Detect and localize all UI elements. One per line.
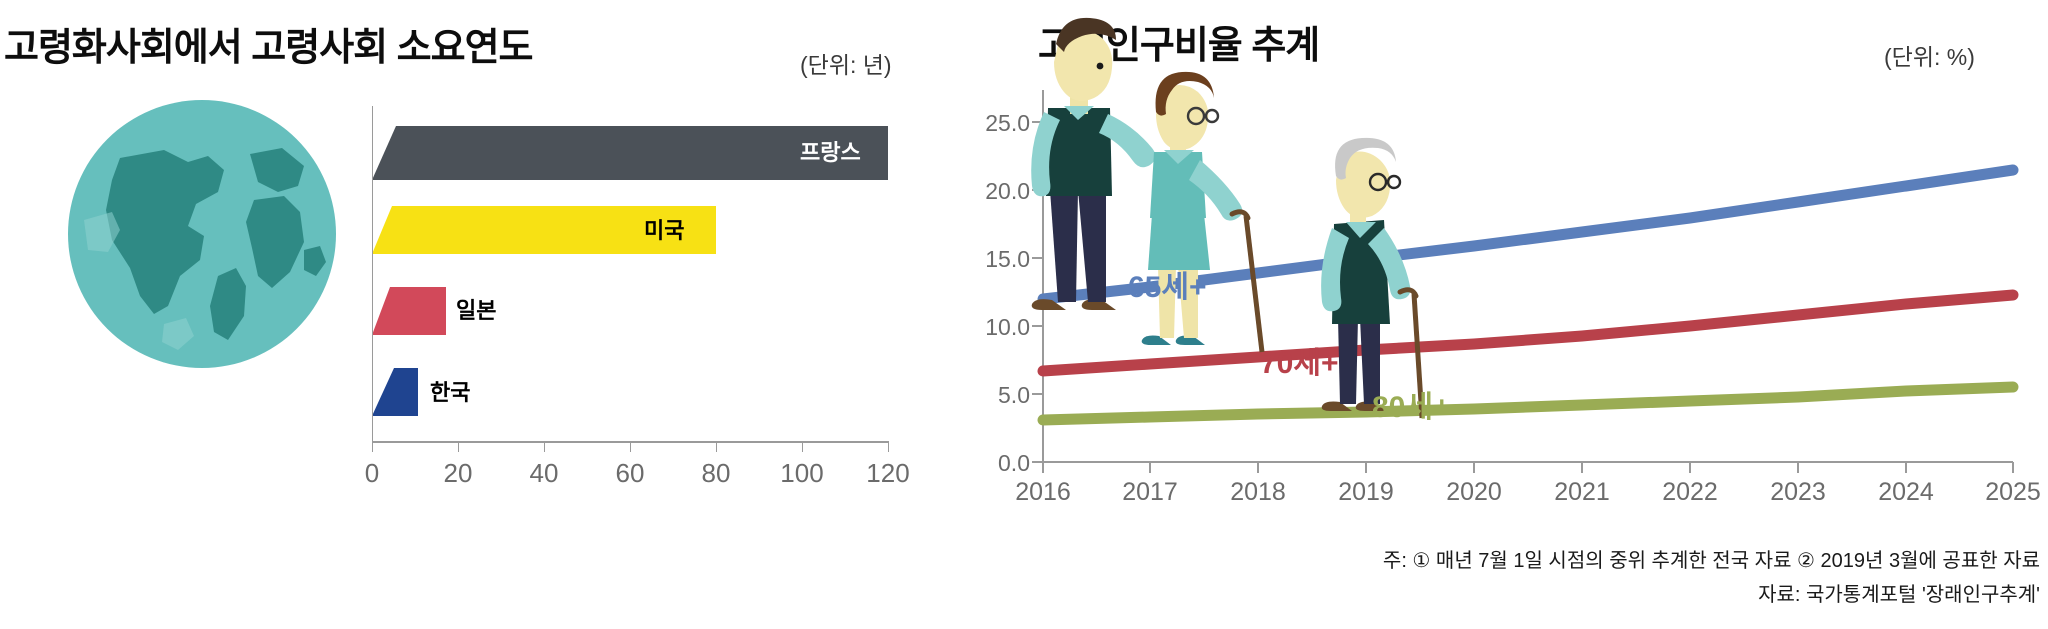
x-tick-label-2024: 2024	[1851, 478, 1961, 507]
x-tick-120	[888, 441, 889, 452]
x-tick-label-120: 120	[858, 458, 918, 489]
x-tick-100	[802, 441, 803, 452]
bar-japan	[372, 287, 446, 335]
person-a-young-man	[960, 0, 1156, 310]
x-tick-label-2023: 2023	[1743, 478, 1853, 507]
series-label-65: 65세+	[1128, 262, 1207, 306]
x-tick-label-0: 0	[342, 458, 402, 489]
bar-label-korea: 한국	[430, 382, 470, 404]
bar-label-france: 프랑스	[800, 142, 861, 164]
x-tick-label-60: 60	[600, 458, 660, 489]
x-tick-20	[458, 441, 459, 452]
x-tick-40	[544, 441, 545, 452]
chart-note: 주: ① 매년 7월 1일 시점의 중위 추계한 전국 자료 ② 2019년 3…	[1383, 544, 2040, 573]
bar-label-japan: 일본	[456, 300, 496, 322]
x-tick-label-2017: 2017	[1095, 478, 1205, 507]
left-chart-panel: 고령화사회에서 고령사회 소요연도 (단위: 년) 프랑스 미국 일본	[0, 0, 960, 629]
x-tick-label-80: 80	[686, 458, 746, 489]
person-b-woman-with-cane	[1142, 72, 1262, 352]
series-label-80: 80세+	[1372, 382, 1451, 426]
bar-chart: 프랑스 미국 일본 한국 0 20 40 60 80 100 120	[0, 0, 960, 629]
line-chart: 25.0 20.0 15.0 10.0 5.0 0.0	[960, 0, 2048, 629]
bar-korea	[372, 368, 418, 416]
bar-label-usa: 미국	[644, 220, 684, 242]
x-tick-80	[716, 441, 717, 452]
x-tick-label-2025: 2025	[1958, 478, 2048, 507]
x-tick-60	[630, 441, 631, 452]
chart-source: 자료: 국가통계포털 '장래인구추계'	[1758, 578, 2040, 607]
x-tick-label-40: 40	[514, 458, 574, 489]
x-tick-label-2021: 2021	[1527, 478, 1637, 507]
x-tick-0	[372, 441, 373, 452]
x-tick-label-100: 100	[772, 458, 832, 489]
x-tick-label-2020: 2020	[1419, 478, 1529, 507]
series-label-70: 70세+	[1260, 338, 1339, 382]
x-tick-label-2019: 2019	[1311, 478, 1421, 507]
x-tick-label-2018: 2018	[1203, 478, 1313, 507]
bar-chart-y-axis	[372, 106, 373, 441]
right-chart-panel: 고령인구비율 추계 (단위: %) 25.0 20.0 15.0 10.0 5.…	[960, 0, 2048, 629]
x-tick-label-2022: 2022	[1635, 478, 1745, 507]
x-tick-label-20: 20	[428, 458, 488, 489]
x-tick-label-2016: 2016	[988, 478, 1098, 507]
